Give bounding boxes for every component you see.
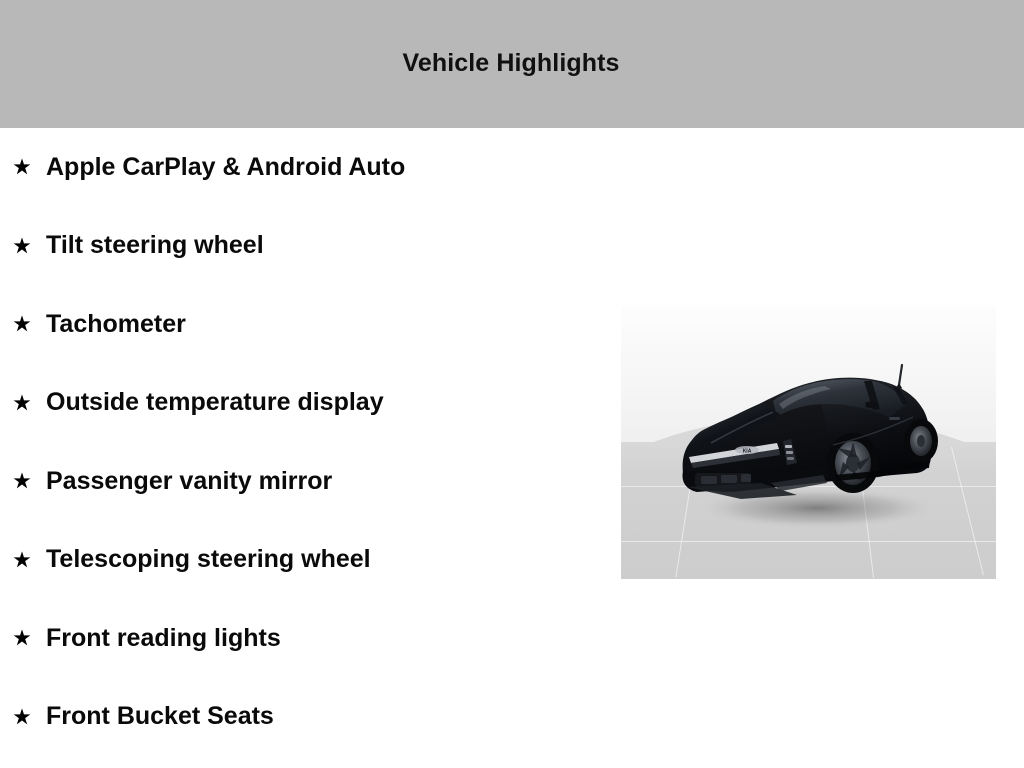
svg-text:KIA: KIA — [743, 449, 752, 455]
list-item-label: Apple CarPlay & Android Auto — [46, 154, 405, 182]
list-item: Tachometer — [0, 285, 600, 364]
list-item-label: Tachometer — [46, 311, 186, 339]
star-icon — [12, 628, 32, 648]
vehicle-highlights-page: Vehicle Highlights Apple CarPlay & Andro… — [0, 0, 1024, 768]
list-item: Front reading lights — [0, 599, 600, 678]
list-item-label: Tilt steering wheel — [46, 232, 264, 260]
list-item: Outside temperature display — [0, 364, 600, 443]
star-icon — [12, 393, 32, 413]
vehicle-highlights-list: Apple CarPlay & Android Auto Tilt steeri… — [0, 128, 600, 756]
list-item-label: Front reading lights — [46, 625, 281, 653]
list-item: Passenger vanity mirror — [0, 442, 600, 521]
car-illustration: KIA — [621, 305, 996, 579]
star-icon — [12, 157, 32, 177]
page-header: Vehicle Highlights — [0, 0, 1024, 128]
list-item: Tilt steering wheel — [0, 207, 600, 286]
list-item: Apple CarPlay & Android Auto — [0, 128, 600, 207]
star-icon — [12, 550, 32, 570]
star-icon — [12, 236, 32, 256]
list-item-label: Passenger vanity mirror — [46, 468, 332, 496]
list-item-label: Front Bucket Seats — [46, 703, 274, 731]
list-item: Telescoping steering wheel — [0, 521, 600, 600]
list-item-label: Telescoping steering wheel — [46, 546, 371, 574]
star-icon — [12, 471, 32, 491]
star-icon — [12, 707, 32, 727]
list-item: Front Bucket Seats — [0, 678, 600, 757]
vehicle-photo: KIA — [621, 305, 996, 579]
page-title: Vehicle Highlights — [402, 51, 619, 76]
star-icon — [12, 314, 32, 334]
list-item-label: Outside temperature display — [46, 389, 384, 417]
